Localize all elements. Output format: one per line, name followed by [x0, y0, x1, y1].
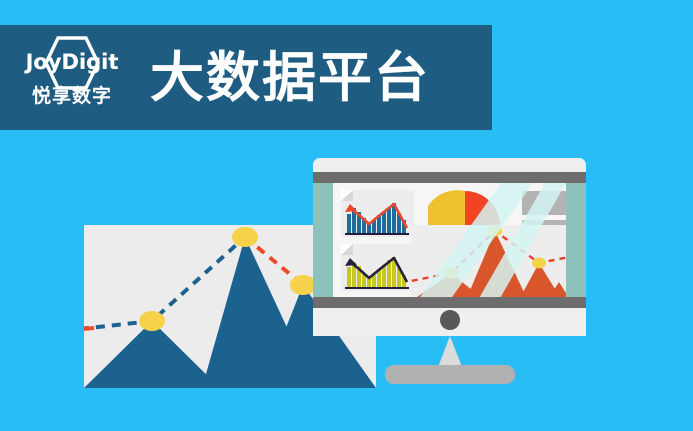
header-banner: JoyDigit 悦享数字 大数据平台 — [0, 25, 492, 130]
mountain-shape-left — [84, 321, 220, 388]
logo-wordmark: JoyDigit — [26, 52, 119, 73]
poster-canvas: JoyDigit 悦享数字 大数据平台 — [0, 0, 693, 431]
desktop-monitor — [313, 158, 586, 336]
logo-subtitle: 悦享数字 — [32, 87, 112, 106]
power-indicator-icon[interactable] — [440, 310, 460, 330]
dashboard-content — [333, 183, 566, 307]
data-marker — [232, 227, 258, 247]
page-title: 大数据平台 — [150, 51, 430, 105]
monitor-stand-base — [385, 365, 515, 384]
trend-line-red-tip — [84, 328, 94, 329]
monitor-stand-neck — [438, 336, 462, 367]
trend-line-blue — [84, 237, 245, 329]
monitor-screen — [313, 183, 586, 307]
monitor-bezel-top — [313, 172, 586, 183]
brand-logo: JoyDigit 悦享数字 — [12, 33, 132, 123]
light-beam-overlay — [333, 183, 566, 307]
screen-band-right — [566, 183, 586, 307]
screen-band-left — [313, 183, 333, 307]
data-marker — [139, 311, 165, 331]
monitor-bezel-bottom — [313, 297, 586, 308]
